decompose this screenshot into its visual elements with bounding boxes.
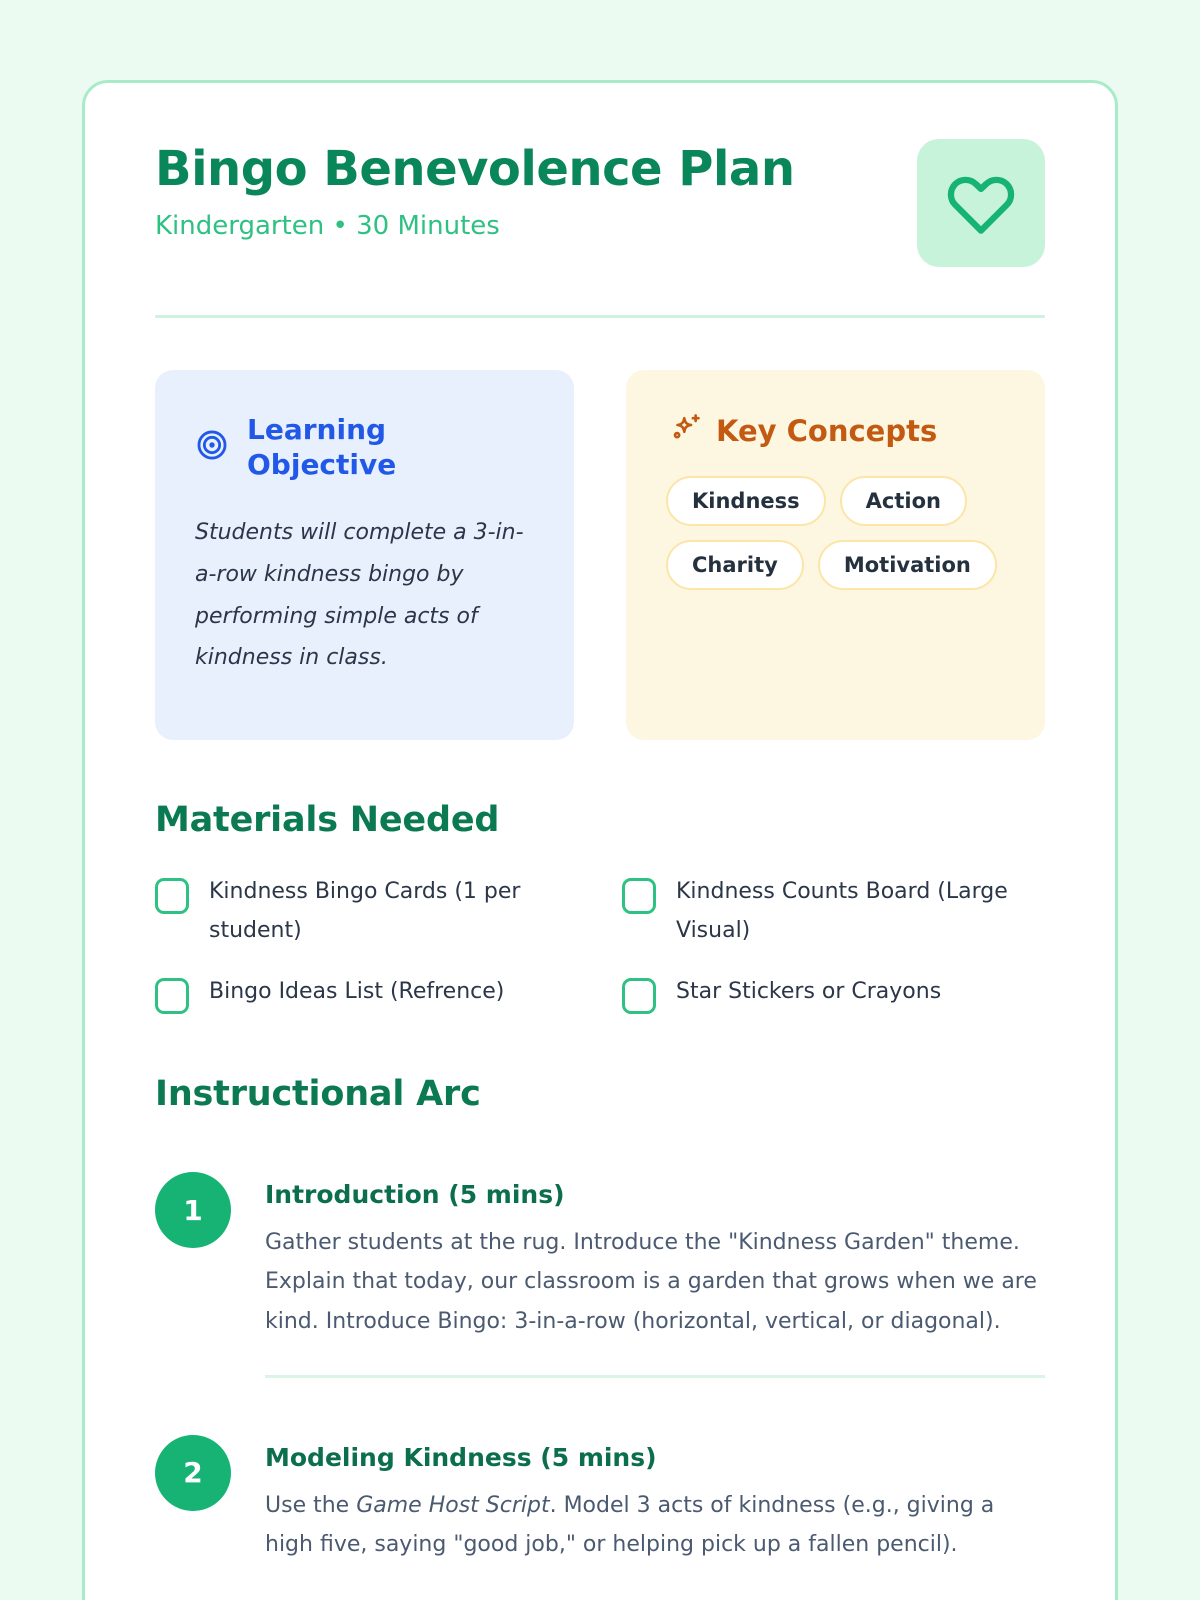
material-checkbox[interactable] bbox=[155, 878, 189, 914]
step-title: Introduction (5 mins) bbox=[265, 1180, 1045, 1209]
step-number-badge: 1 bbox=[155, 1172, 231, 1248]
target-icon bbox=[195, 428, 229, 466]
material-item[interactable]: Bingo Ideas List (Refrence) bbox=[155, 972, 578, 1014]
step-number-badge: 2 bbox=[155, 1435, 231, 1511]
objective-text: Students will complete a 3-in-a-row kind… bbox=[195, 512, 534, 679]
info-cards-row: Learning Objective Students will complet… bbox=[155, 370, 1045, 740]
materials-list: Kindness Bingo Cards (1 per student) Kin… bbox=[155, 872, 1045, 1014]
step-text: Gather students at the rug. Introduce th… bbox=[265, 1223, 1045, 1340]
heart-icon bbox=[945, 170, 1017, 236]
sparkles-icon bbox=[666, 412, 702, 450]
instructional-step: 1 Introduction (5 mins) Gather students … bbox=[155, 1144, 1045, 1340]
material-label: Star Stickers or Crayons bbox=[676, 972, 941, 1011]
concept-chip-list: Kindness Action Charity Motivation bbox=[666, 476, 1005, 590]
material-item[interactable]: Star Stickers or Crayons bbox=[622, 972, 1045, 1014]
concepts-title: Key Concepts bbox=[716, 414, 937, 449]
concept-chip[interactable]: Kindness bbox=[666, 476, 826, 526]
page-subtitle: Kindergarten • 30 Minutes bbox=[155, 211, 794, 242]
concept-chip[interactable]: Charity bbox=[666, 540, 804, 590]
instructional-arc-section-title: Instructional Arc bbox=[155, 1074, 1045, 1114]
concept-chip[interactable]: Action bbox=[840, 476, 967, 526]
step-text-emphasis: Game Host Script bbox=[356, 1493, 549, 1518]
objective-title: Learning Objective bbox=[247, 412, 437, 482]
learning-objective-card: Learning Objective Students will complet… bbox=[155, 370, 574, 740]
page-title: Bingo Benevolence Plan bbox=[155, 143, 794, 197]
lesson-plan-page: Bingo Benevolence Plan Kindergarten • 30… bbox=[0, 0, 1200, 1600]
step-body: Introduction (5 mins) Gather students at… bbox=[265, 1172, 1045, 1340]
material-checkbox[interactable] bbox=[155, 978, 189, 1014]
materials-section-title: Materials Needed bbox=[155, 800, 1045, 840]
header-text-block: Bingo Benevolence Plan Kindergarten • 30… bbox=[155, 139, 794, 242]
header-divider bbox=[155, 315, 1045, 318]
concepts-header: Key Concepts bbox=[666, 412, 1005, 450]
step-title: Modeling Kindness (5 mins) bbox=[265, 1443, 1045, 1472]
instructional-step: 2 Modeling Kindness (5 mins) Use the Gam… bbox=[155, 1375, 1045, 1564]
material-label: Kindness Bingo Cards (1 per student) bbox=[209, 872, 578, 950]
material-item[interactable]: Kindness Counts Board (Large Visual) bbox=[622, 872, 1045, 950]
material-checkbox[interactable] bbox=[622, 878, 656, 914]
instructional-steps-list: 1 Introduction (5 mins) Gather students … bbox=[155, 1144, 1045, 1564]
material-label: Kindness Counts Board (Large Visual) bbox=[676, 872, 1045, 950]
lesson-plan-card: Bingo Benevolence Plan Kindergarten • 30… bbox=[82, 80, 1118, 1600]
material-checkbox[interactable] bbox=[622, 978, 656, 1014]
heart-badge bbox=[917, 139, 1045, 267]
key-concepts-card: Key Concepts Kindness Action Charity Mot… bbox=[626, 370, 1045, 740]
concept-chip[interactable]: Motivation bbox=[818, 540, 997, 590]
step-text-lead: Use the bbox=[265, 1493, 356, 1518]
objective-header: Learning Objective bbox=[195, 412, 534, 482]
lesson-header: Bingo Benevolence Plan Kindergarten • 30… bbox=[155, 139, 1045, 267]
material-item[interactable]: Kindness Bingo Cards (1 per student) bbox=[155, 872, 578, 950]
step-text: Use the Game Host Script. Model 3 acts o… bbox=[265, 1486, 1045, 1564]
step-body: Modeling Kindness (5 mins) Use the Game … bbox=[265, 1435, 1045, 1564]
material-label: Bingo Ideas List (Refrence) bbox=[209, 972, 504, 1011]
